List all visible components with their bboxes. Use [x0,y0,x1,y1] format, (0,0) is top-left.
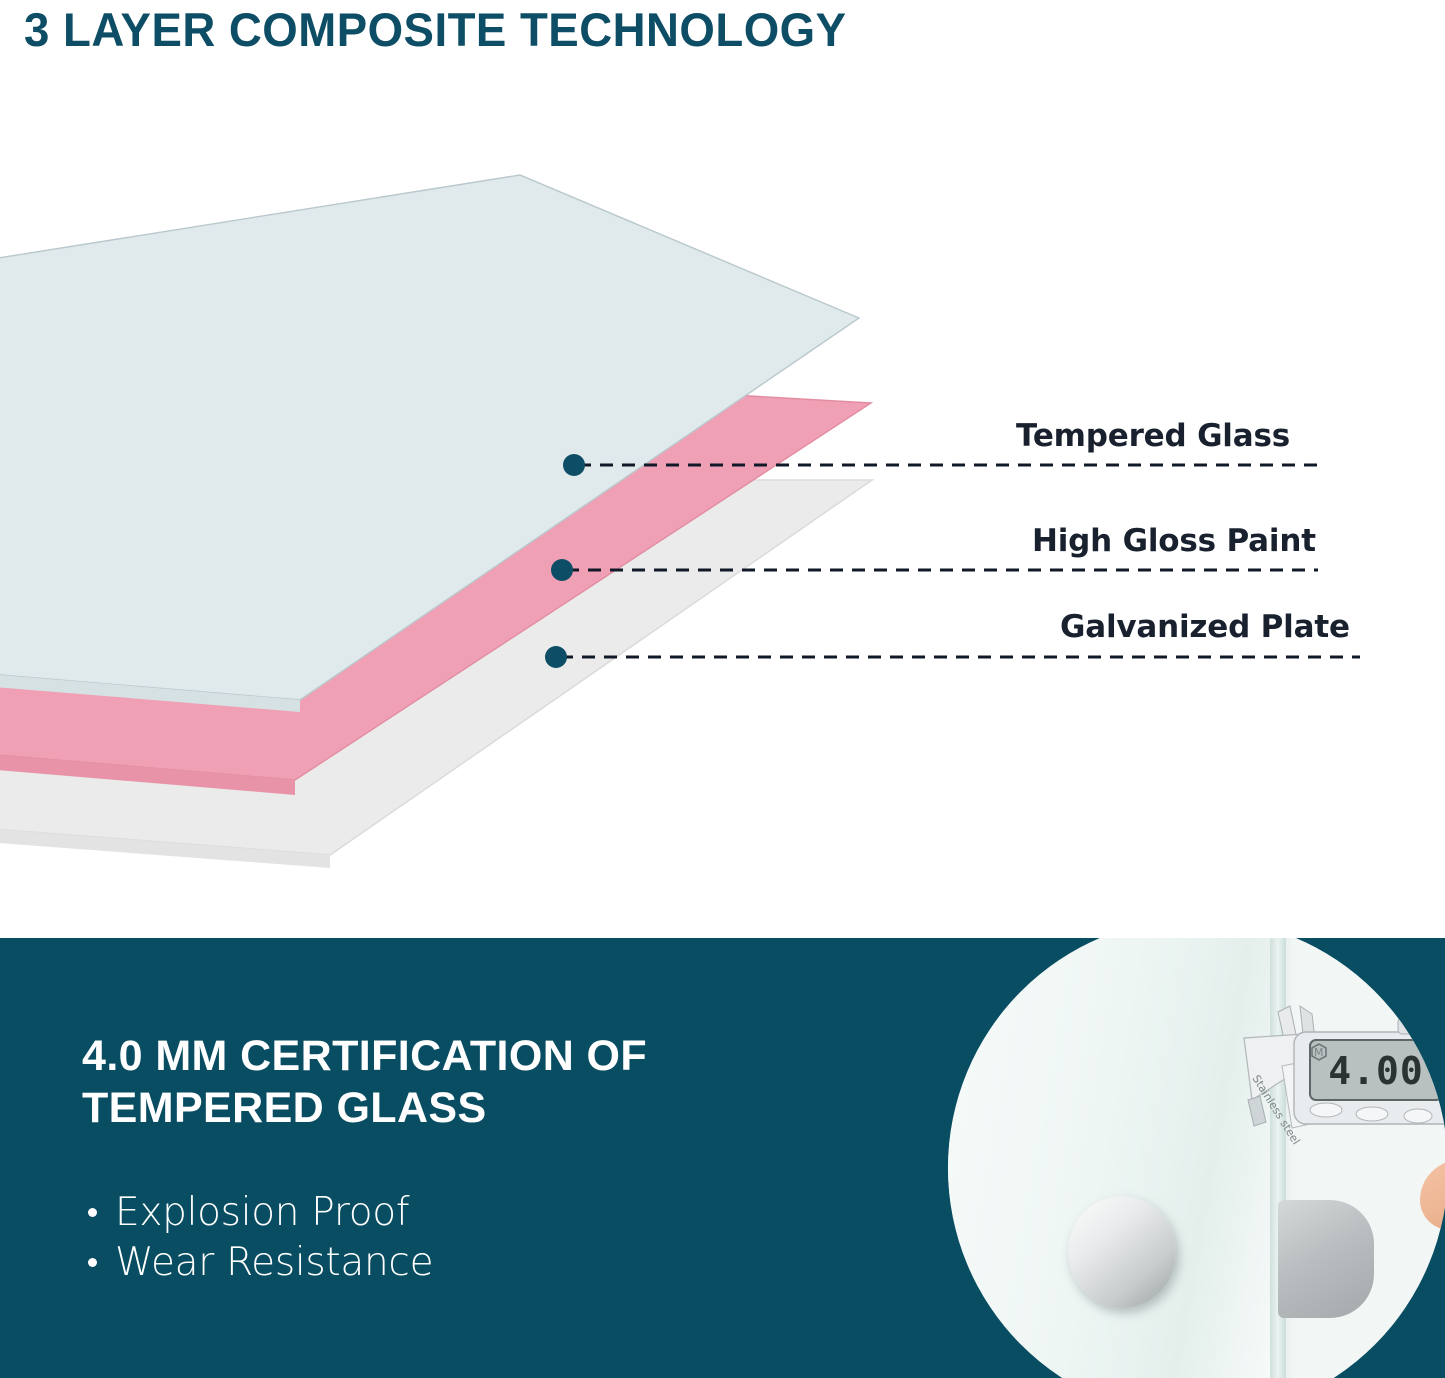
page-title: 3 LAYER COMPOSITE TECHNOLOGY [24,2,846,57]
svg-text:M: M [1314,1046,1324,1059]
feature-list: Explosion Proof Wear Resistance [88,1188,433,1288]
certification-panel: 4.0 MM CERTIFICATION OF TEMPERED GLASS E… [0,938,1445,1378]
certification-heading: 4.0 MM CERTIFICATION OF TEMPERED GLASS [82,1030,722,1135]
list-item: Wear Resistance [88,1238,433,1288]
feature-label: Wear Resistance [115,1238,433,1288]
standoff-mount-front [1068,1196,1176,1308]
digital-caliper: 4.00 M Stainless steel [1186,1004,1445,1224]
callout-line-galvanized-plate [545,646,1360,668]
feature-label: Explosion Proof [115,1188,409,1238]
bullet-icon [88,1258,97,1267]
infographic-page: 3 LAYER COMPOSITE TECHNOLOGY [0,0,1445,1378]
callout-label-galvanized-plate: Galvanized Plate [1060,609,1350,645]
product-photo-circle: 4.00 M Stainless steel [948,938,1445,1378]
callout-label-high-gloss-paint: High Gloss Paint [1032,523,1316,559]
list-item: Explosion Proof [88,1188,433,1238]
bullet-icon [88,1208,97,1217]
caliper-lcd-value: 4.00 [1328,1049,1424,1093]
callout-label-tempered-glass: Tempered Glass [1016,418,1290,454]
